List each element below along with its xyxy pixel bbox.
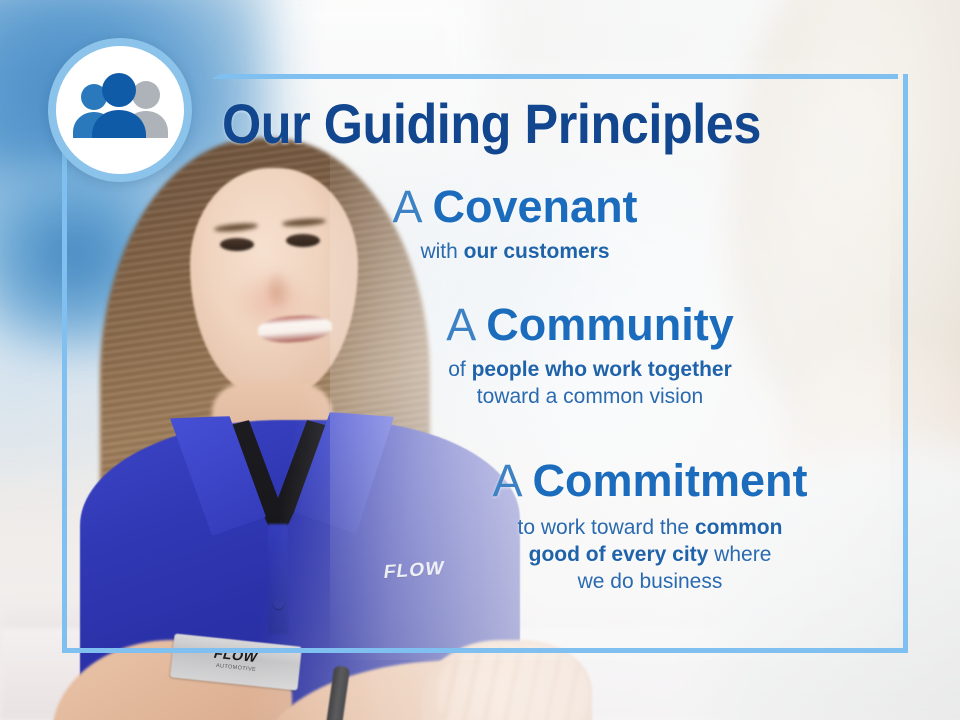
people-icon-badge <box>48 38 192 182</box>
people-group-icon <box>68 72 172 148</box>
decorative-frame-left-edge <box>62 197 67 653</box>
decorative-frame-top-edge <box>212 74 898 79</box>
poster-title: Our Guiding Principles <box>222 96 816 152</box>
poster-canvas: FLOW FLOW AUTOMOTIVE Our <box>0 0 960 720</box>
